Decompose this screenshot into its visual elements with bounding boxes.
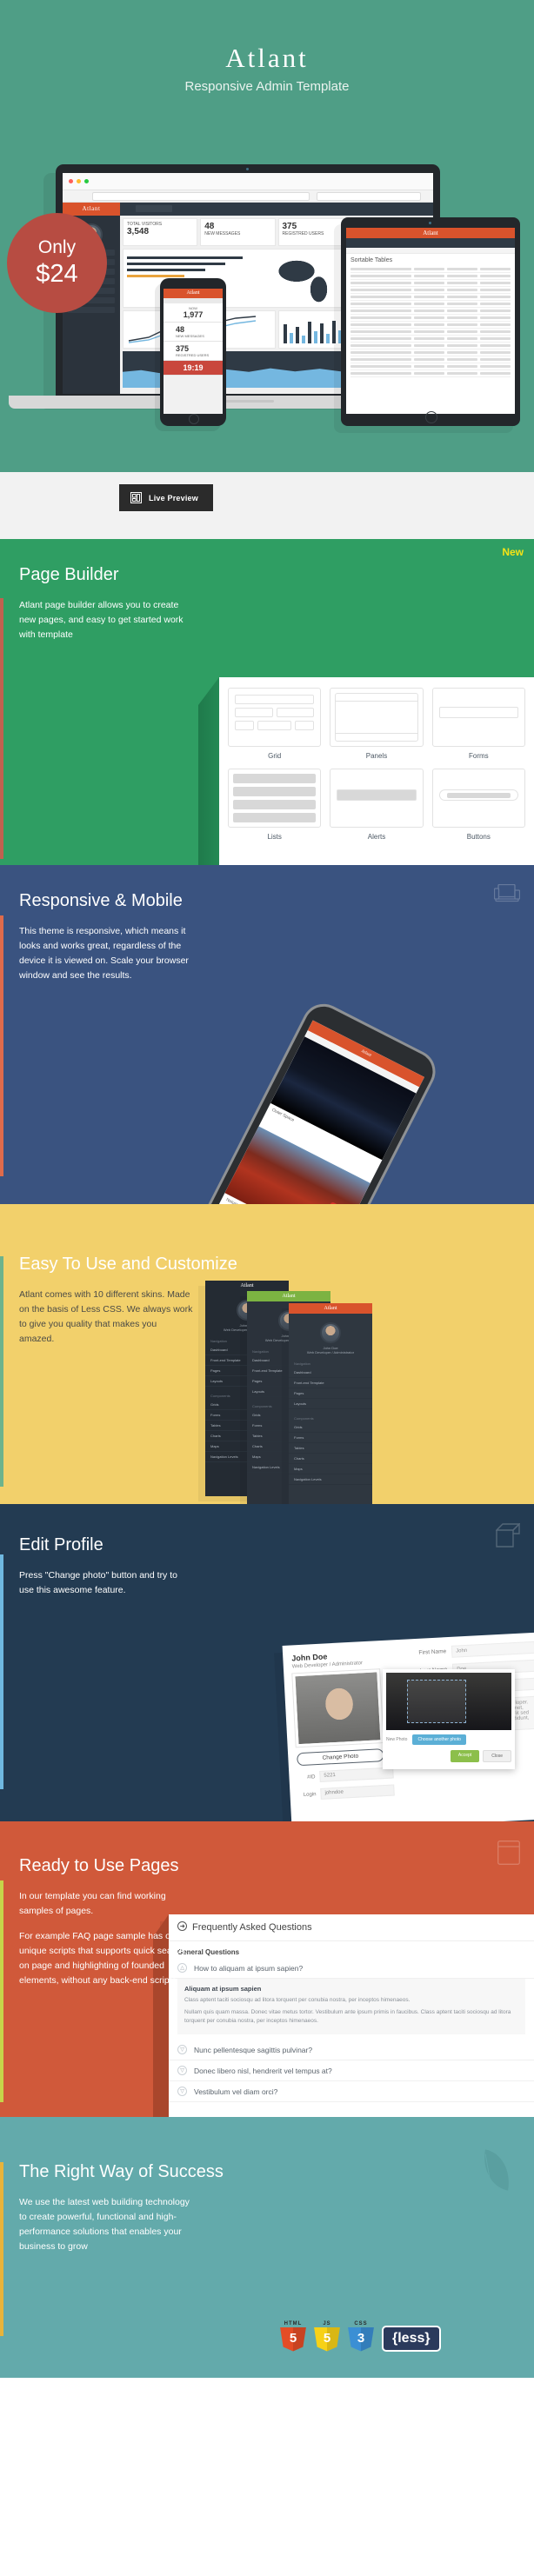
widget-label: Panels	[330, 752, 423, 760]
phone-kpi-now: NOW 1,977	[164, 303, 223, 323]
section-paragraph-2: For example FAQ page sample has own uniq…	[19, 1929, 193, 1988]
widget-alerts[interactable]: Alerts	[330, 769, 423, 849]
widget-label: Lists	[228, 833, 321, 841]
first-name-field[interactable]: John	[451, 1641, 534, 1658]
html5-caption: HTML	[280, 2320, 306, 2327]
js-caption: JS	[314, 2320, 340, 2327]
kpi-label: NEW MESSAGES	[176, 334, 220, 338]
section-description: We use the latest web building technolog…	[19, 2195, 193, 2254]
kpi-label: REGISTRED USERS	[176, 353, 220, 357]
less-logo: {less}	[382, 2326, 441, 2352]
login-field[interactable]: johndoe	[320, 1784, 395, 1799]
widget-lists[interactable]: Lists	[228, 769, 321, 849]
kpi-card: TOTAL VISITORS 3,548	[123, 218, 197, 246]
faq-question[interactable]: ▽ Nunc pellentesque sagittis pulvinar?	[169, 2040, 534, 2060]
faq-question-text: Vestibulum vel diam orci?	[194, 2087, 277, 2096]
new-photo-label: New Photo	[386, 1737, 407, 1742]
tablet-page-title: Sortable Tables	[346, 254, 515, 266]
tablet-table	[346, 266, 515, 377]
page-title: The Right Way of Success	[19, 2162, 534, 2182]
skin-item[interactable]: Maps	[289, 1464, 372, 1474]
widget-label: Alerts	[330, 833, 423, 841]
skin-item[interactable]: Grids	[289, 1422, 372, 1433]
js-glyph: 5	[314, 2331, 340, 2346]
widget-panels[interactable]: Panels	[330, 688, 423, 769]
section-edit-profile: Edit Profile Press "Change photo" button…	[0, 1504, 534, 1821]
kpi-card: 48 NEW MESSAGES	[200, 218, 275, 246]
live-preview-button[interactable]: Live Preview	[119, 484, 213, 511]
section-description: Atlant page builder allows you to create…	[19, 598, 193, 642]
chevron-down-icon: ▽	[177, 2045, 187, 2054]
close-dot-icon	[69, 179, 73, 183]
skin-comp-header: Components	[289, 1409, 372, 1422]
chevron-down-icon: ▽	[177, 2087, 187, 2096]
skin-item[interactable]: Pages	[289, 1388, 372, 1399]
phone-tilted-mockup: Atlant Outer Space Nature	[158, 962, 494, 1204]
section-page-builder: New Page Builder Atlant page builder all…	[0, 539, 534, 865]
admin-search-input	[136, 205, 172, 212]
kpi-value: 1,977	[166, 310, 220, 319]
landing-page: Atlant Responsive Admin Template Atlant	[0, 0, 534, 2576]
widget-label: Buttons	[432, 833, 525, 841]
page-title: Page Builder	[19, 565, 534, 585]
price-badge: Only $24	[7, 213, 107, 313]
phone-kpi-clock: 19:19	[164, 361, 223, 376]
html5-glyph: 5	[280, 2331, 306, 2346]
choose-another-photo-button[interactable]: Choose another photo	[412, 1734, 465, 1745]
faq-question[interactable]: ▽ Donec libero nisl, hendrerit vel tempu…	[169, 2060, 534, 2081]
id-label: #ID	[297, 1774, 315, 1781]
crop-photo-modal: New Photo Choose another photo Accept Cl…	[383, 1669, 515, 1769]
profile-photo	[292, 1669, 383, 1747]
tablet-breadcrumb	[346, 248, 515, 254]
hero-title: Atlant	[0, 0, 534, 74]
page-title: Ready to Use Pages	[19, 1856, 534, 1876]
phone-kpi-messages: 48 NEW MESSAGES	[164, 323, 223, 342]
preview-bar: Live Preview	[0, 472, 534, 539]
section-right-way-of-success: The Right Way of Success We use the late…	[0, 2117, 534, 2378]
tablet-mockup: Atlant Sortable Tables	[341, 217, 520, 426]
widget-grid[interactable]: Grid	[228, 688, 321, 769]
page-title: Responsive & Mobile	[19, 891, 534, 911]
address-field	[92, 192, 310, 201]
browser-urlbar	[63, 190, 433, 203]
section-description: In our template you can find working sam…	[19, 1889, 193, 1988]
kpi-value: 3,548	[127, 227, 193, 236]
change-photo-button[interactable]: Change Photo	[297, 1748, 384, 1766]
accept-button[interactable]: Accept	[451, 1750, 479, 1762]
faq-question[interactable]: ▽ Vestibulum vel diam orci?	[169, 2081, 534, 2102]
chevron-down-icon: ▽	[177, 2066, 187, 2075]
kpi-value: 48	[204, 222, 270, 231]
section-description: Press "Change photo" button and try to u…	[19, 1568, 193, 1598]
kpi-value: 19:19	[166, 363, 220, 372]
hero-section: Atlant Responsive Admin Template Atlant	[0, 0, 534, 472]
section-description: This theme is responsive, which means it…	[19, 924, 193, 983]
price-badge-only: Only	[38, 237, 76, 258]
faq-answer-p1: Class aptent taciti sociosqu ad litora t…	[184, 1996, 518, 2005]
admin-logo: Atlant	[63, 203, 120, 216]
faq-question-text: Donec libero nisl, hendrerit vel tempus …	[194, 2067, 332, 2075]
faq-answer-p2: Nullam quis quam massa. Donec vitae metu…	[184, 2008, 518, 2026]
crop-preview-image[interactable]	[386, 1673, 511, 1730]
skin-item[interactable]: Charts	[289, 1454, 372, 1464]
skin-item[interactable]: Tables	[289, 1443, 372, 1454]
section-paragraph-1: In our template you can find working sam…	[19, 1889, 193, 1919]
skin-item[interactable]: Navigation Levels	[289, 1474, 372, 1485]
kpi-label: NEW MESSAGES	[204, 231, 270, 236]
widget-label: Forms	[432, 752, 525, 760]
skin-nav-header: Navigation	[289, 1355, 372, 1368]
page-builder-widgets: Grid Panels Forms Lis	[219, 677, 534, 865]
admin-navbar	[120, 203, 433, 216]
technology-logos: HTML 5 JS 5 CSS 3 {less}	[280, 2320, 441, 2352]
kpi-value: 375	[176, 344, 220, 353]
skin-item[interactable]: Front-end Template	[289, 1378, 372, 1388]
tablet-screen: Atlant Sortable Tables	[346, 228, 515, 414]
id-value: 5221	[319, 1767, 394, 1782]
skin-item[interactable]: Layouts	[289, 1399, 372, 1409]
price-badge-amount: $24	[36, 260, 77, 289]
kpi-value: 48	[176, 325, 220, 334]
faq-question-text: Nunc pellentesque sagittis pulvinar?	[194, 2046, 312, 2054]
page-title: Easy To Use and Customize	[19, 1255, 534, 1275]
widget-buttons[interactable]: Buttons	[432, 769, 525, 849]
close-button[interactable]: Close	[483, 1750, 511, 1762]
minimize-dot-icon	[77, 179, 81, 183]
css3-caption: CSS	[348, 2320, 374, 2327]
widget-label: Grid	[228, 752, 321, 760]
html5-logo: HTML 5	[280, 2320, 306, 2352]
section-responsive-mobile: Responsive & Mobile This theme is respon…	[0, 865, 534, 1204]
js-logo: JS 5	[314, 2320, 340, 2352]
tablet-navbar	[346, 238, 515, 248]
kpi-value: 375	[283, 222, 349, 231]
hero-subtitle: Responsive Admin Template	[0, 79, 534, 94]
phone-screen: Atlant NOW 1,977 48 NEW MESSAGES 375 REG…	[164, 289, 223, 414]
widget-forms[interactable]: Forms	[432, 688, 525, 769]
layout-preview-icon	[130, 492, 142, 503]
section-easy-to-use: Easy To Use and Customize Atlant comes w…	[0, 1204, 534, 1504]
phone-mockup: Atlant NOW 1,977 48 NEW MESSAGES 375 REG…	[160, 278, 226, 426]
css3-logo: CSS 3	[348, 2320, 374, 2352]
skin-item[interactable]: Dashboard	[289, 1368, 372, 1378]
kpi-label: REGISTRED USERS	[283, 231, 349, 236]
skin-item[interactable]: Forms	[289, 1433, 372, 1443]
browser-search-field	[317, 192, 421, 201]
tablet-logo: Atlant	[346, 228, 515, 238]
phone-logo: Atlant	[164, 289, 223, 298]
zoom-dot-icon	[84, 179, 89, 183]
first-name-label: First Name	[404, 1646, 446, 1656]
new-badge: New	[502, 546, 524, 558]
section-description: Atlant comes with 10 different skins. Ma…	[19, 1288, 193, 1347]
login-label: Login	[298, 1792, 316, 1798]
css3-glyph: 3	[348, 2331, 374, 2346]
live-preview-label: Live Preview	[149, 494, 198, 503]
browser-chrome	[63, 173, 433, 190]
admin-topbar: Atlant	[63, 203, 433, 216]
page-title: Edit Profile	[19, 1535, 534, 1555]
phone-kpi-users: 375 REGISTRED USERS	[164, 342, 223, 361]
section-ready-to-use-pages: Ready to Use Pages In our template you c…	[0, 1821, 534, 2117]
